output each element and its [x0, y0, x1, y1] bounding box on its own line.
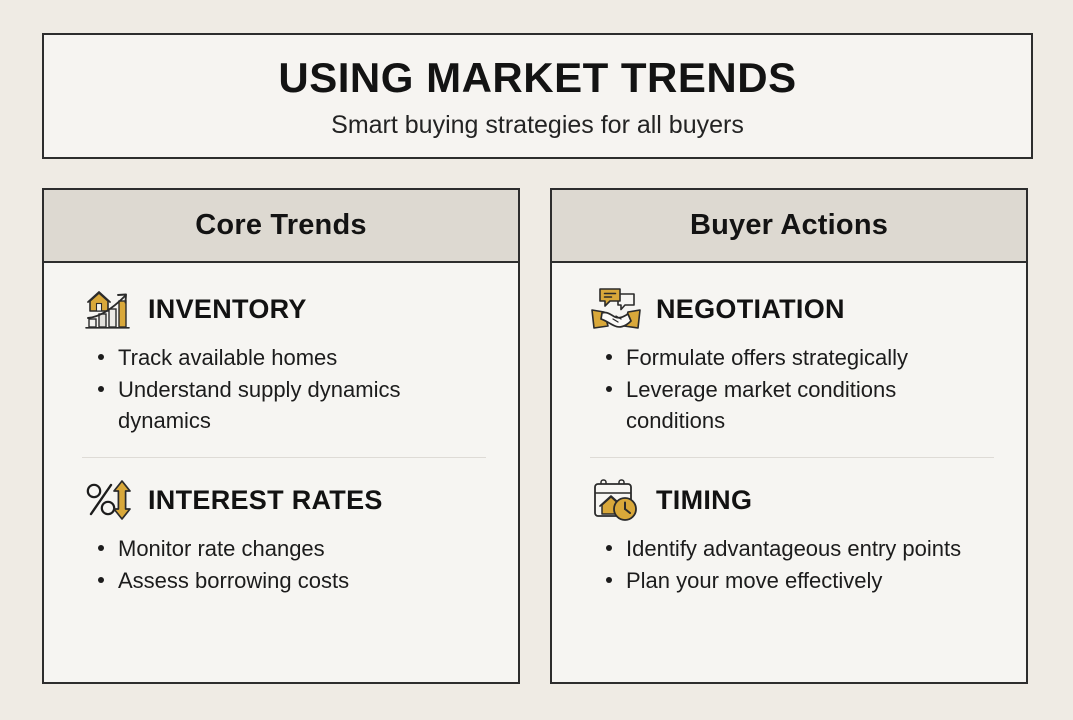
- section-title-timing: TIMING: [656, 487, 752, 514]
- calendar-clock-house-icon: [590, 477, 642, 523]
- bullet-list-interest-rates: Monitor rate changes Assess borrowing co…: [82, 533, 492, 596]
- columns-container: Core Trends: [42, 188, 1033, 684]
- column-core-trends: Core Trends: [42, 188, 520, 684]
- section-title-inventory: INVENTORY: [148, 296, 307, 323]
- section-head-interest-rates: INTEREST RATES: [82, 476, 492, 524]
- column-title: Core Trends: [195, 209, 366, 242]
- handshake-speech-bubbles-icon: [590, 286, 642, 332]
- percent-updown-arrow-icon: [82, 477, 134, 523]
- section-head-inventory: INVENTORY: [82, 285, 492, 333]
- section-divider: [82, 457, 486, 458]
- column-buyer-actions: Buyer Actions: [550, 188, 1028, 684]
- page-subtitle: Smart buying strategies for all buyers: [331, 110, 744, 140]
- bullet-list-timing: Identify advantageous entry points Plan …: [590, 533, 1000, 596]
- list-item: Assess borrowing costs: [96, 565, 492, 596]
- bullet-list-inventory: Track available homes Understand supply …: [82, 342, 492, 436]
- list-item: Identify advantageous entry points: [604, 533, 1000, 564]
- list-item: Monitor rate changes: [96, 533, 492, 564]
- list-item: Formulate offers strategically: [604, 342, 1000, 373]
- column-header-buyer-actions: Buyer Actions: [552, 190, 1026, 263]
- section-title-interest-rates: INTEREST RATES: [148, 487, 383, 514]
- infographic-page: USING MARKET TRENDS Smart buying strateg…: [0, 0, 1073, 720]
- section-head-timing: TIMING: [590, 476, 1000, 524]
- list-item: Track available homes: [96, 342, 492, 373]
- bullet-list-negotiation: Formulate offers strategically Leverage …: [590, 342, 1000, 436]
- section-negotiation: NEGOTIATION Formulate offers strategical…: [590, 285, 1000, 437]
- header-banner: USING MARKET TRENDS Smart buying strateg…: [42, 33, 1033, 159]
- list-item: Understand supply dynamics dynamics: [96, 374, 492, 436]
- section-interest-rates: INTEREST RATES Monitor rate changes Asse…: [82, 476, 492, 597]
- section-timing: TIMING Identify advantageous entry point…: [590, 476, 1000, 597]
- house-growth-chart-icon: [82, 286, 134, 332]
- section-title-negotiation: NEGOTIATION: [656, 296, 845, 323]
- section-inventory: INVENTORY Track available homes Understa…: [82, 285, 492, 437]
- column-body-buyer-actions: NEGOTIATION Formulate offers strategical…: [552, 263, 1026, 682]
- column-body-core-trends: INVENTORY Track available homes Understa…: [44, 263, 518, 682]
- list-item: Leverage market conditions conditions: [604, 374, 1000, 436]
- page-title: USING MARKET TRENDS: [278, 56, 796, 100]
- column-title: Buyer Actions: [690, 209, 888, 242]
- column-header-core-trends: Core Trends: [44, 190, 518, 263]
- section-head-negotiation: NEGOTIATION: [590, 285, 1000, 333]
- list-item: Plan your move effectively: [604, 565, 1000, 596]
- section-divider: [590, 457, 994, 458]
